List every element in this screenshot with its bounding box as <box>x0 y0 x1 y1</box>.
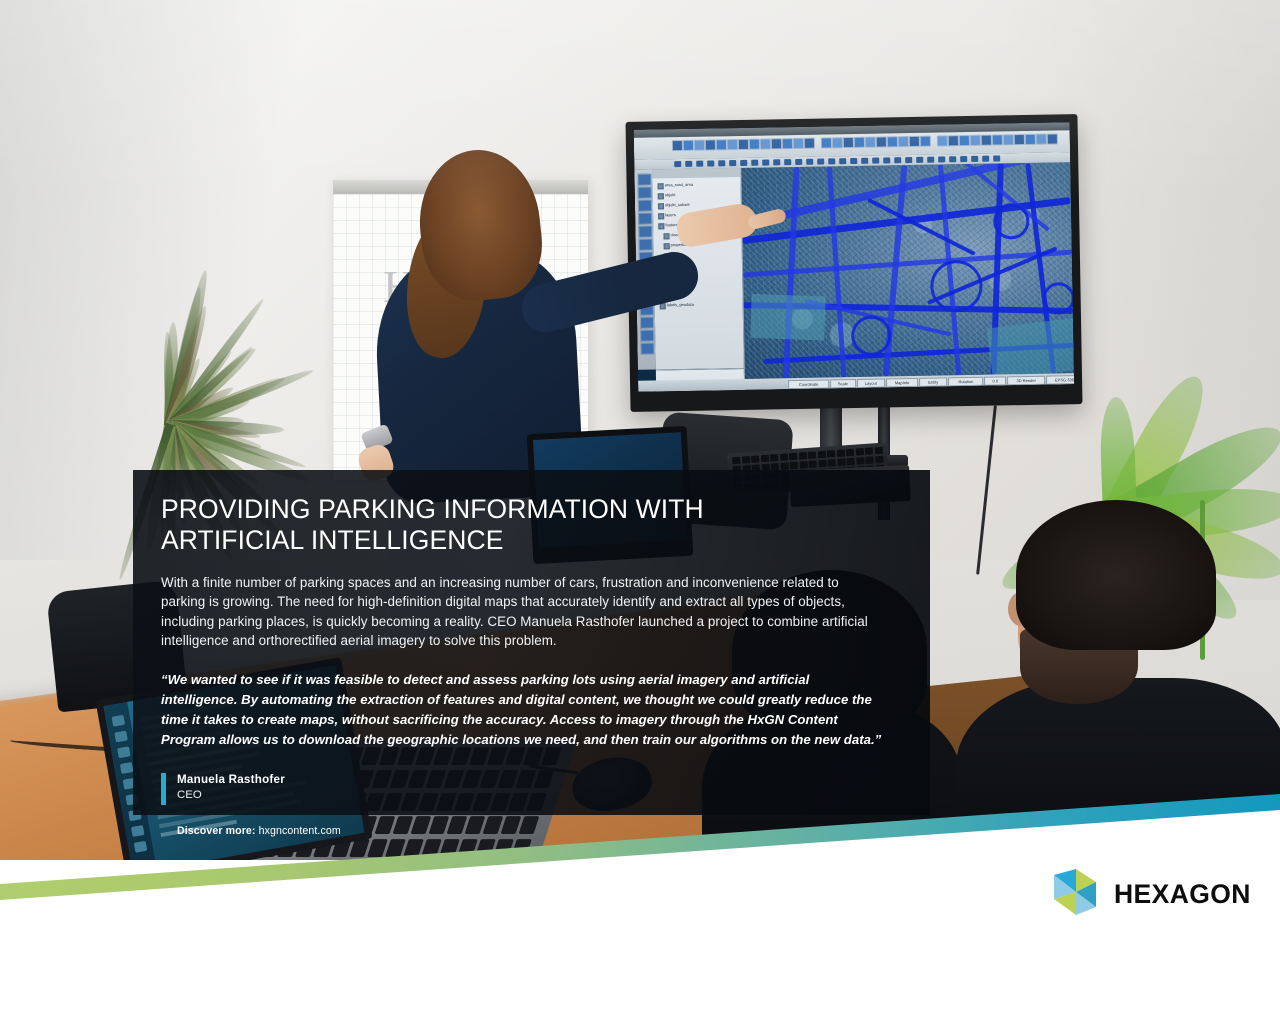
keyboard-key <box>836 449 844 457</box>
toolbar2-icon <box>817 159 824 165</box>
poster-page: H <box>0 0 1280 1024</box>
keyboard-key <box>827 450 835 458</box>
palette-icon <box>637 174 651 186</box>
layer-tree-item[interactable]: area_road_area <box>665 181 694 188</box>
toolbar-icon <box>782 138 793 149</box>
keyboard-key <box>770 454 778 462</box>
toolbar2-icon <box>850 158 857 164</box>
toolbar-icon <box>843 137 854 148</box>
toolbar-icon <box>1036 134 1047 145</box>
toolbar-icon <box>683 140 694 151</box>
toolbar2-icon <box>773 159 780 165</box>
toolbar-icon <box>771 138 782 149</box>
toolbar2-icon <box>685 161 692 167</box>
toolbar-icon <box>694 140 705 151</box>
status-segment: Layout <box>857 378 886 387</box>
toolbar-icon <box>909 136 920 147</box>
status-segment: Rotation <box>948 377 983 387</box>
toolbar-icon <box>716 139 727 150</box>
keyboard-key <box>865 447 873 455</box>
keyboard-key <box>760 455 768 463</box>
keyboard-key <box>856 457 864 465</box>
page-title: PROVIDING PARKING INFORMATION WITH ARTIF… <box>161 494 801 556</box>
toolbar-icon <box>672 140 683 151</box>
keyboard-key <box>865 456 873 464</box>
toolbar-icon <box>760 138 771 149</box>
toolbar2-icon <box>894 157 901 163</box>
palette-icon <box>638 187 652 199</box>
toolbar-icon <box>948 135 959 146</box>
keyboard-key <box>779 453 787 461</box>
toolbar2-icon <box>982 156 989 162</box>
keyboard-key <box>751 455 759 463</box>
toolbar2-icon <box>927 157 934 163</box>
keyboard-key <box>732 457 740 465</box>
hexagon-wordmark: HEXAGON <box>1114 879 1251 910</box>
toolbar2-icon <box>861 158 868 164</box>
toolbar-icon <box>937 135 948 146</box>
laptop-sidebar-icon <box>120 762 134 774</box>
layer-tree-item[interactable]: objekt <box>665 191 676 198</box>
palette-icon <box>640 317 654 329</box>
status-segment: MapInfo <box>886 378 918 388</box>
keyboard-key <box>874 447 882 455</box>
toolbar-icon <box>1014 134 1025 145</box>
toolbar-icon <box>727 139 738 150</box>
keyboard-key <box>846 458 854 466</box>
toolbar2-icon <box>718 160 725 166</box>
toolbar-icon <box>793 138 804 149</box>
toolbar2-icon <box>751 160 758 166</box>
toolbar2-icon <box>674 161 681 167</box>
toolbar2-icon <box>740 160 747 166</box>
toolbar2-icon <box>949 156 956 162</box>
toolbar-icon <box>876 136 887 147</box>
keyboard-key <box>875 456 883 464</box>
keyboard-key <box>846 449 854 457</box>
toolbar2-icon <box>696 161 703 167</box>
toolbar2-icon <box>806 159 813 165</box>
toolbar2-icon <box>993 155 1000 161</box>
toolbar2-icon <box>762 159 769 165</box>
status-segment: Coordinate <box>788 379 829 389</box>
keyboard-key <box>808 460 816 468</box>
status-segment: Entity <box>919 377 948 386</box>
man-right-hair <box>1016 500 1216 650</box>
toolbar2-icon <box>938 156 945 162</box>
laptop-sidebar-icon <box>114 731 128 743</box>
keyboard-key <box>855 448 863 456</box>
layer-tree-item[interactable]: layers <box>665 211 676 218</box>
keyboard-key <box>741 456 749 464</box>
keyboard-key <box>827 459 835 467</box>
toolbar-icon <box>705 139 716 150</box>
hexagon-logo[interactable]: HEXAGON <box>1052 866 1228 922</box>
keyboard-key <box>818 460 826 468</box>
toolbar2-icon <box>872 158 879 164</box>
palette-icon <box>638 200 652 212</box>
keyboard-key <box>799 461 807 469</box>
toolbar2-icon <box>784 159 791 165</box>
toolbar-icon <box>959 135 970 146</box>
toolbar-icon <box>1047 133 1058 144</box>
toolbar-icon <box>738 139 749 150</box>
hexagon-mark-icon <box>1052 867 1101 922</box>
keyboard-key <box>808 451 816 459</box>
toolbar2-icon <box>971 156 978 162</box>
toolbar-icon <box>920 136 931 147</box>
toolbar-icon <box>992 134 1003 145</box>
toolbar-icon <box>898 136 909 147</box>
keyboard-key <box>798 452 806 460</box>
layer-tree-item[interactable]: objekt_subset <box>665 201 690 208</box>
toolbar-icon <box>981 135 992 146</box>
toolbar2-icon <box>828 158 835 164</box>
palette-icon <box>640 342 654 354</box>
keyboard-key <box>817 451 825 459</box>
toolbar2-icon <box>916 157 923 163</box>
keyboard-key <box>789 462 797 470</box>
laptop-sidebar-icon <box>112 715 126 727</box>
toolbar2-icon <box>707 160 714 166</box>
keyboard-key <box>837 458 845 466</box>
toolbar2-icon <box>839 158 846 164</box>
layer-tree-item[interactable]: labels_geodata <box>667 301 694 308</box>
toolbar2-icon <box>905 157 912 163</box>
palette-icon <box>639 239 653 251</box>
toolbar-icon <box>832 137 843 148</box>
toolbar-icon <box>970 135 981 146</box>
toolbar2-icon <box>729 160 736 166</box>
toolbar-icon <box>804 138 815 149</box>
palette-icon <box>638 213 652 225</box>
content-overlay-panel: PROVIDING PARKING INFORMATION WITH ARTIF… <box>133 470 930 815</box>
pull-quote: “We wanted to see if it was feasible to … <box>161 670 883 750</box>
status-segment: Scale <box>830 379 856 388</box>
toolbar2-icon <box>795 159 802 165</box>
toolbar-icon <box>821 137 832 148</box>
keyboard-key <box>780 462 788 470</box>
toolbar-icon <box>865 137 876 148</box>
palette-icon <box>640 329 654 341</box>
palette-icon <box>638 226 652 238</box>
intro-paragraph: With a finite number of parking spaces a… <box>161 573 881 651</box>
laptop-sidebar-icon <box>117 746 131 758</box>
keyboard-key <box>789 453 797 461</box>
toolbar-icon <box>887 136 898 147</box>
toolbar-icon <box>854 137 865 148</box>
toolbar2-icon <box>883 157 890 163</box>
sports-field <box>750 294 825 341</box>
toolbar2-icon <box>960 156 967 162</box>
toolbar-icon <box>1025 134 1036 145</box>
toolbar-icon <box>1003 134 1014 145</box>
toolbar-icon <box>749 139 760 150</box>
layer-tree-header <box>652 168 740 179</box>
